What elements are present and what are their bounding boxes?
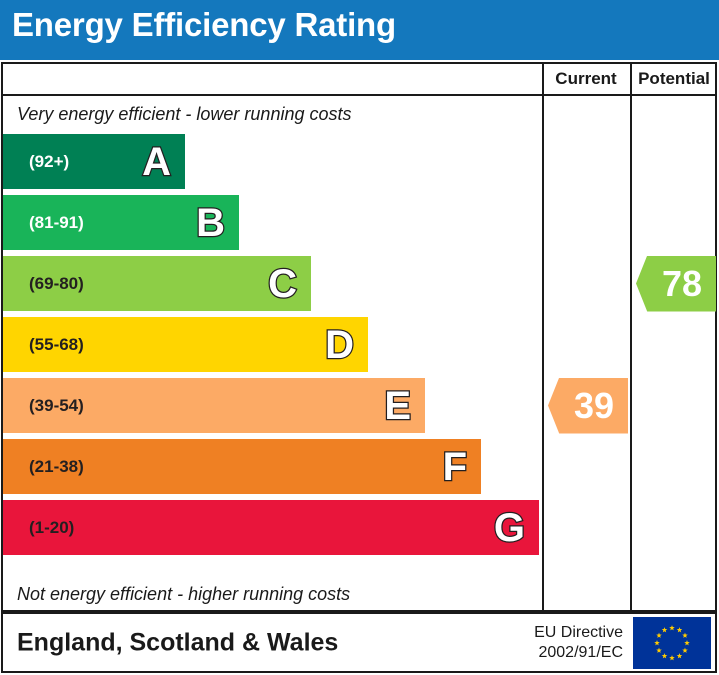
eu-directive-line2: 2002/91/EC bbox=[534, 643, 623, 663]
rating-table: Current Potential Very energy efficient … bbox=[1, 62, 717, 612]
band-bar-c: (69-80)C bbox=[3, 256, 311, 311]
column-divider-current bbox=[542, 64, 544, 610]
band-range-c: (69-80) bbox=[29, 274, 84, 294]
band-range-e: (39-54) bbox=[29, 396, 84, 416]
current-rating-value: 39 bbox=[548, 378, 628, 434]
band-bar-g: (1-20)G bbox=[3, 500, 539, 555]
band-range-g: (1-20) bbox=[29, 518, 74, 538]
potential-rating-value: 78 bbox=[636, 256, 716, 312]
band-range-b: (81-91) bbox=[29, 213, 84, 233]
energy-efficiency-rating-chart: Energy Efficiency Rating Current Potenti… bbox=[0, 0, 719, 675]
eu-directive-text: EU Directive 2002/91/EC bbox=[534, 623, 623, 663]
band-letter-e: E bbox=[384, 386, 411, 426]
band-letter-a: A bbox=[142, 142, 171, 182]
eu-flag-icon bbox=[633, 617, 711, 669]
band-bar-d: (55-68)D bbox=[3, 317, 368, 372]
caption-efficient: Very energy efficient - lower running co… bbox=[3, 96, 542, 132]
eu-directive-line1: EU Directive bbox=[534, 623, 623, 643]
band-letter-c: C bbox=[268, 264, 297, 304]
band-bars-container: (92+)A(81-91)B(69-80)C(55-68)D(39-54)E(2… bbox=[3, 134, 542, 574]
region-label: England, Scotland & Wales bbox=[17, 628, 338, 657]
band-range-a: (92+) bbox=[29, 152, 69, 172]
band-range-f: (21-38) bbox=[29, 457, 84, 477]
current-rating-badge: 39 bbox=[548, 378, 628, 434]
caption-inefficient: Not energy efficient - higher running co… bbox=[3, 576, 542, 612]
column-header-potential: Potential bbox=[631, 64, 717, 94]
column-header-current: Current bbox=[543, 64, 629, 94]
band-bar-a: (92+)A bbox=[3, 134, 185, 189]
band-letter-g: G bbox=[494, 508, 525, 548]
band-letter-d: D bbox=[325, 325, 354, 365]
band-letter-b: B bbox=[196, 203, 225, 243]
band-letter-f: F bbox=[443, 447, 467, 487]
chart-footer: England, Scotland & Wales EU Directive 2… bbox=[1, 612, 717, 673]
column-divider-potential bbox=[630, 64, 632, 610]
band-bar-f: (21-38)F bbox=[3, 439, 481, 494]
chart-header: Energy Efficiency Rating bbox=[0, 0, 719, 60]
potential-rating-badge: 78 bbox=[636, 256, 716, 312]
band-bar-e: (39-54)E bbox=[3, 378, 425, 433]
band-range-d: (55-68) bbox=[29, 335, 84, 355]
band-bar-b: (81-91)B bbox=[3, 195, 239, 250]
page-title: Energy Efficiency Rating bbox=[12, 6, 396, 44]
